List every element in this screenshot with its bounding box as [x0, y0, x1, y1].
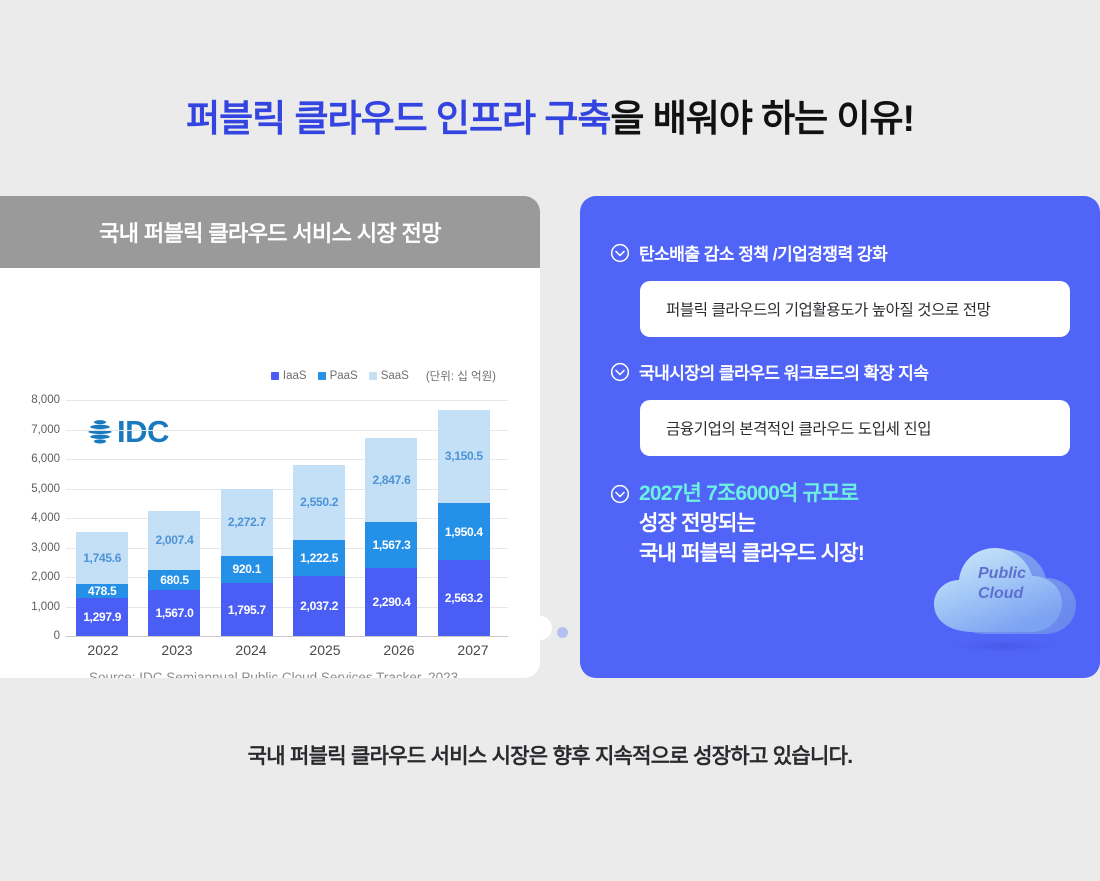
- x-axis-label-2027: 2027: [447, 642, 499, 658]
- check-circle-icon: [610, 243, 630, 263]
- bar-segment-paas-2026: 1,567.3: [365, 522, 417, 568]
- info-item-2-box-text: 금융기업의 본격적인 클라우드 도입세 진입: [666, 417, 931, 439]
- bar-column-2023[interactable]: 2,007.4680.51,567.0: [148, 511, 200, 636]
- page-title-accent: 퍼블릭 클라우드 인프라 구축: [186, 98, 610, 139]
- info-item-2-heading-row: 국내시장의 클라우드 워크로드의 확장 지속: [610, 359, 1070, 384]
- legend-item-iaas: IaaS: [271, 370, 307, 382]
- card-edge-nub: [528, 616, 552, 640]
- legend-label-iaas: IaaS: [283, 370, 307, 382]
- bar-segment-iaas-2024: 1,795.7: [221, 583, 273, 636]
- legend-swatch-paas: [318, 372, 326, 380]
- bar-segment-paas-2024: 920.1: [221, 556, 273, 583]
- legend-swatch-saas: [369, 372, 377, 380]
- chart-bars: 1,745.6478.51,297.92,007.4680.51,567.02,…: [66, 400, 500, 636]
- bar-segment-paas-2023: 680.5: [148, 570, 200, 590]
- page-title: 퍼블릭 클라우드 인프라 구축을 배워야 하는 이유!: [0, 88, 1100, 142]
- cloud-label: Public Cloud: [978, 564, 1026, 604]
- legend-label-saas: SaaS: [381, 370, 409, 382]
- info-item-1-heading-row: 탄소배출 감소 정책 /기업경쟁력 강화: [610, 240, 1070, 265]
- spacer-1: [610, 337, 1070, 359]
- bar-column-2026[interactable]: 2,847.61,567.32,290.4: [365, 438, 417, 636]
- bar-segment-saas-2022: 1,745.6: [76, 532, 128, 583]
- panels-row: 국내 퍼블릭 클라우드 서비스 시장 전망 IaaS PaaS SaaS (단위…: [0, 196, 1100, 678]
- gridline: [66, 636, 508, 637]
- bar-segment-iaas-2023: 1,567.0: [148, 590, 200, 636]
- legend-label-paas: PaaS: [330, 370, 358, 382]
- info-final-line2: 성장 전망되는: [639, 509, 864, 539]
- y-axis-tick: 5,000: [31, 483, 60, 495]
- x-axis-label-2023: 2023: [151, 642, 203, 658]
- check-circle-icon: [610, 362, 630, 382]
- bar-segment-iaas-2022: 1,297.9: [76, 598, 128, 636]
- page-title-rest: 을 배워야 하는 이유!: [610, 98, 913, 139]
- bar-segment-iaas-2026: 2,290.4: [365, 568, 417, 636]
- info-final-block: 2027년 7조6000억 규모로 성장 전망되는 국내 퍼블릭 클라우드 시장…: [610, 479, 1070, 568]
- cloud-label-line2: Cloud: [978, 584, 1026, 604]
- legend-swatch-iaas: [271, 372, 279, 380]
- bar-segment-saas-2026: 2,847.6: [365, 438, 417, 522]
- chart-card-header: 국내 퍼블릭 클라우드 서비스 시장 전망: [0, 196, 540, 268]
- chart-source-note: Source: IDC Semiannual Public Cloud Serv…: [89, 670, 458, 678]
- info-final-line3: 국내 퍼블릭 클라우드 시장!: [639, 539, 864, 569]
- bottom-caption: 국내 퍼블릭 클라우드 서비스 시장은 향후 지속적으로 성장하고 있습니다.: [0, 740, 1100, 770]
- bar-column-2022[interactable]: 1,745.6478.51,297.9: [76, 532, 128, 636]
- y-axis-tick: 2,000: [31, 571, 60, 583]
- bar-segment-iaas-2025: 2,037.2: [293, 576, 345, 636]
- info-item-2-box: 금융기업의 본격적인 클라우드 도입세 진입: [640, 400, 1070, 456]
- carousel-dot[interactable]: [557, 627, 568, 638]
- bar-segment-paas-2025: 1,222.5: [293, 540, 345, 576]
- info-item-1-heading: 탄소배출 감소 정책 /기업경쟁력 강화: [639, 240, 887, 265]
- bar-segment-saas-2027: 3,150.5: [438, 410, 490, 503]
- legend-item-paas: PaaS: [318, 370, 358, 382]
- chart-legend: IaaS PaaS SaaS (단위: 십 억원): [271, 368, 496, 384]
- info-final-lines: 2027년 7조6000억 규모로 성장 전망되는 국내 퍼블릭 클라우드 시장…: [639, 479, 864, 568]
- bar-segment-paas-2022: 478.5: [76, 584, 128, 598]
- y-axis-tick: 8,000: [31, 394, 60, 406]
- y-axis-tick: 7,000: [31, 424, 60, 436]
- x-axis-label-2026: 2026: [373, 642, 425, 658]
- check-circle-icon: [610, 484, 630, 504]
- bar-segment-paas-2027: 1,950.4: [438, 503, 490, 561]
- bar-column-2024[interactable]: 2,272.7920.11,795.7: [221, 489, 273, 636]
- info-item-1-box: 퍼블릭 클라우드의 기업활용도가 높아질 것으로 전망: [640, 281, 1070, 337]
- y-axis-tick: 1,000: [31, 601, 60, 613]
- info-item-2: 국내시장의 클라우드 워크로드의 확장 지속 금융기업의 본격적인 클라우드 도…: [610, 359, 1070, 456]
- bar-segment-saas-2025: 2,550.2: [293, 465, 345, 540]
- chart-y-axis: 01,0002,0003,0004,0005,0006,0007,0008,00…: [22, 400, 66, 636]
- info-item-1-box-text: 퍼블릭 클라우드의 기업활용도가 높아질 것으로 전망: [666, 298, 990, 320]
- y-axis-tick: 4,000: [31, 512, 60, 524]
- info-card: 탄소배출 감소 정책 /기업경쟁력 강화 퍼블릭 클라우드의 기업활용도가 높아…: [580, 196, 1100, 678]
- chart-x-axis: 202220232024202520262027: [66, 642, 510, 658]
- x-axis-label-2022: 2022: [77, 642, 129, 658]
- y-axis-tick: 0: [54, 630, 60, 642]
- spacer-2: [610, 456, 1070, 479]
- info-final-line1: 2027년 7조6000억 규모로: [639, 479, 864, 509]
- bar-column-2025[interactable]: 2,550.21,222.52,037.2: [293, 465, 345, 636]
- info-item-1: 탄소배출 감소 정책 /기업경쟁력 강화 퍼블릭 클라우드의 기업활용도가 높아…: [610, 240, 1070, 337]
- chart-body: IaaS PaaS SaaS (단위: 십 억원): [0, 268, 540, 678]
- chart-title: 국내 퍼블릭 클라우드 서비스 시장 전망: [99, 216, 441, 248]
- y-axis-tick: 3,000: [31, 542, 60, 554]
- legend-item-saas: SaaS: [369, 370, 409, 382]
- x-axis-label-2024: 2024: [225, 642, 277, 658]
- chart-plot: 01,0002,0003,0004,0005,0006,0007,0008,00…: [22, 400, 508, 636]
- chart-unit-note: (단위: 십 억원): [426, 368, 496, 384]
- chart-card: 국내 퍼블릭 클라우드 서비스 시장 전망 IaaS PaaS SaaS (단위…: [0, 196, 540, 678]
- bar-segment-saas-2023: 2,007.4: [148, 511, 200, 570]
- bar-segment-iaas-2027: 2,563.2: [438, 560, 490, 636]
- y-axis-tick: 6,000: [31, 453, 60, 465]
- bar-column-2027[interactable]: 3,150.51,950.42,563.2: [438, 410, 490, 636]
- x-axis-label-2025: 2025: [299, 642, 351, 658]
- bar-segment-saas-2024: 2,272.7: [221, 489, 273, 556]
- info-item-2-heading: 국내시장의 클라우드 워크로드의 확장 지속: [639, 359, 928, 384]
